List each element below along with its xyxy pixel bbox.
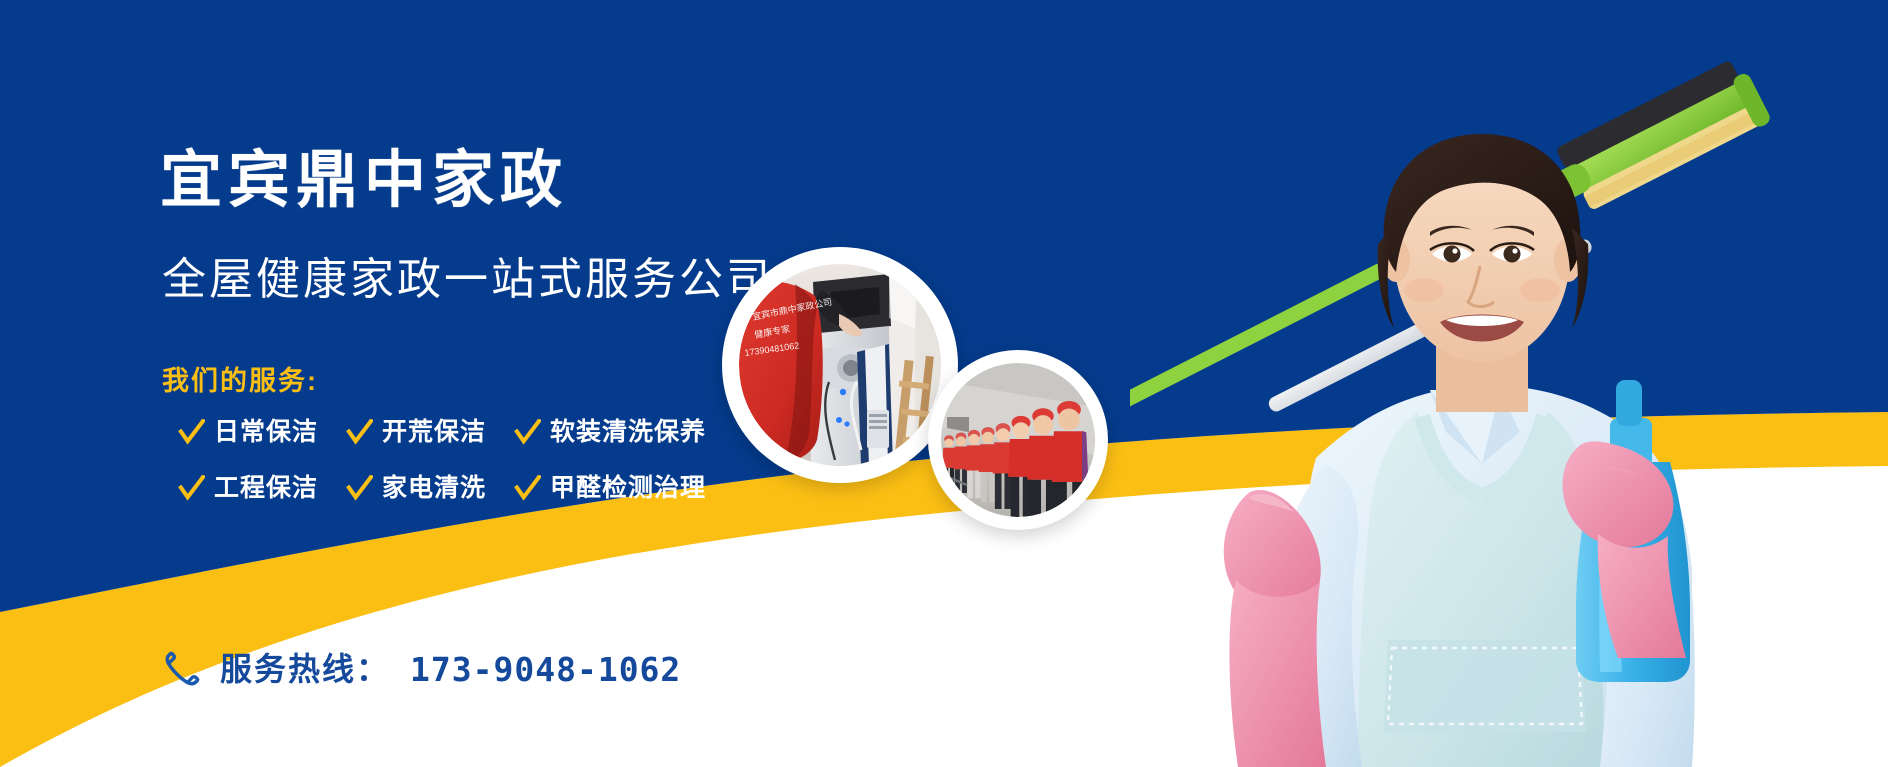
- service-label: 日常保洁: [214, 420, 318, 445]
- check-icon: [346, 475, 373, 502]
- service-item-formaldehyde-testing[interactable]: 甲醛检测治理: [514, 475, 706, 502]
- service-label: 软装清洗保养: [550, 420, 706, 445]
- photo-image: [941, 363, 1095, 517]
- service-label: 家电清洗: [382, 476, 486, 501]
- check-icon: [178, 475, 205, 502]
- service-item-project-cleaning[interactable]: 工程保洁: [178, 475, 318, 502]
- promotional-banner: 宜宾鼎中家政 全屋健康家政一站式服务公司 我们的服务: 日常保洁 开荒保洁: [0, 0, 1888, 767]
- hotline-block[interactable]: 服务热线： 173-9048-1062: [162, 648, 681, 690]
- check-icon: [178, 419, 205, 446]
- services-row: 工程保洁 家电清洗 甲醛检测治理: [178, 468, 734, 508]
- service-label: 开荒保洁: [382, 420, 486, 445]
- apron-pocket: [1384, 640, 1586, 732]
- team-lineup-photo[interactable]: [928, 350, 1108, 530]
- formaldehyde-testing-photo[interactable]: 宜宾市鼎中家政公司 健康专家 17390481062: [722, 247, 958, 483]
- services-row: 日常保洁 开荒保洁 软装清洗保养: [178, 412, 734, 452]
- services-heading: 我们的服务:: [162, 368, 318, 395]
- photo-image: 宜宾市鼎中家政公司 健康专家 17390481062: [739, 264, 941, 466]
- hotline-label: 服务热线：: [220, 653, 390, 685]
- brand-subtitle: 全屋健康家政一站式服务公司: [162, 258, 773, 302]
- service-item-daily-cleaning[interactable]: 日常保洁: [178, 419, 318, 446]
- left-glove: [1224, 490, 1326, 767]
- page-title: 宜宾鼎中家政: [160, 150, 568, 212]
- hotline-number[interactable]: 173-9048-1062: [410, 653, 681, 686]
- service-label: 甲醛检测治理: [550, 476, 706, 501]
- model-illustration: [1130, 60, 1888, 767]
- service-item-appliance-cleaning[interactable]: 家电清洗: [346, 475, 486, 502]
- cleaning-staff-model: [1130, 60, 1888, 767]
- phone-icon: [162, 648, 204, 690]
- service-label: 工程保洁: [214, 476, 318, 501]
- check-icon: [514, 419, 541, 446]
- check-icon: [346, 419, 373, 446]
- services-list: 日常保洁 开荒保洁 软装清洗保养: [178, 412, 734, 524]
- check-icon: [514, 475, 541, 502]
- service-item-rough-cleaning[interactable]: 开荒保洁: [346, 419, 486, 446]
- service-item-soft-furnishing-care[interactable]: 软装清洗保养: [514, 419, 706, 446]
